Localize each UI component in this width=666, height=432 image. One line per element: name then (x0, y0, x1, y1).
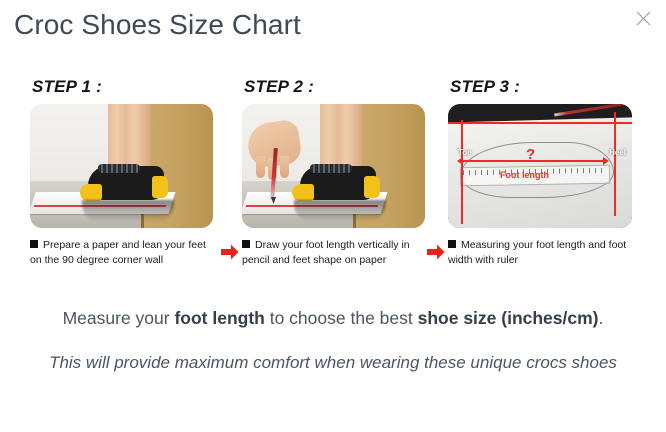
step-1-image (30, 104, 213, 228)
arrow-step1-to-step2 (221, 244, 239, 260)
toe-guide-line (461, 120, 463, 224)
yellow-heel (364, 176, 380, 198)
finger (280, 156, 289, 178)
foot-length-label: Foot length (500, 170, 549, 180)
step-1-caption: Prepare a paper and lean your feet on th… (30, 238, 220, 268)
lead-text-part-2: to choose the best (265, 308, 418, 328)
page-title: Croc Shoes Size Chart (14, 9, 301, 41)
step-1-label: STEP 1 : (32, 78, 226, 96)
heel-guide-line (614, 112, 616, 216)
question-mark-label: ? (526, 146, 535, 163)
lead-text-part-1: Measure your (63, 308, 175, 328)
step-3-image: Toe Heel ? Foot length (448, 104, 632, 228)
lead-text: Measure your foot length to choose the b… (0, 305, 666, 331)
arrow-step2-to-step3 (427, 244, 445, 260)
step-2-caption: Draw your foot length vertically in penc… (242, 238, 432, 268)
sock-cuff (310, 164, 352, 173)
step-3-label: STEP 3 : (450, 78, 644, 96)
step-2-image (242, 104, 425, 228)
step-3-caption-text: Measuring your foot length and foot widt… (448, 239, 626, 266)
step-3-caption: Measuring your foot length and foot widt… (448, 238, 638, 268)
step-1-caption-text: Prepare a paper and lean your feet on th… (30, 239, 206, 266)
floor-reflection (82, 200, 174, 222)
yellow-toe (292, 184, 314, 201)
step-1: STEP 1 : Prepare a paper and lean your f… (30, 78, 226, 268)
steps-strip: STEP 1 : Prepare a paper and lean your f… (0, 78, 666, 294)
size-chart-modal: Croc Shoes Size Chart STEP 1 : (0, 0, 666, 432)
lead-text-bold-1: foot length (174, 308, 264, 328)
heel-label: Heel (609, 148, 626, 157)
bullet-square-icon (242, 240, 250, 248)
lead-text-part-3: . (599, 308, 604, 328)
step-3: STEP 3 : Toe Heel ? Foot length Measurin… (448, 78, 644, 268)
bullet-square-icon (448, 240, 456, 248)
step-2: STEP 2 : (242, 78, 438, 268)
sock-cuff (98, 164, 140, 173)
step-2-label: STEP 2 : (244, 78, 438, 96)
close-icon (636, 11, 651, 26)
bullet-square-icon (30, 240, 38, 248)
yellow-heel (152, 176, 168, 198)
finger (256, 156, 265, 178)
lead-text-bold-2: shoe size (inches/cm) (418, 308, 599, 328)
step-2-caption-text: Draw your foot length vertically in penc… (242, 239, 410, 266)
close-button[interactable] (630, 5, 656, 31)
yellow-toe (80, 184, 102, 201)
top-guide-line (448, 122, 632, 124)
floor-reflection (294, 200, 386, 222)
right-arrow-icon (427, 247, 445, 264)
toe-label: Toe (458, 148, 472, 157)
right-arrow-icon (221, 247, 239, 264)
note-text: This will provide maximum comfort when w… (0, 348, 666, 378)
